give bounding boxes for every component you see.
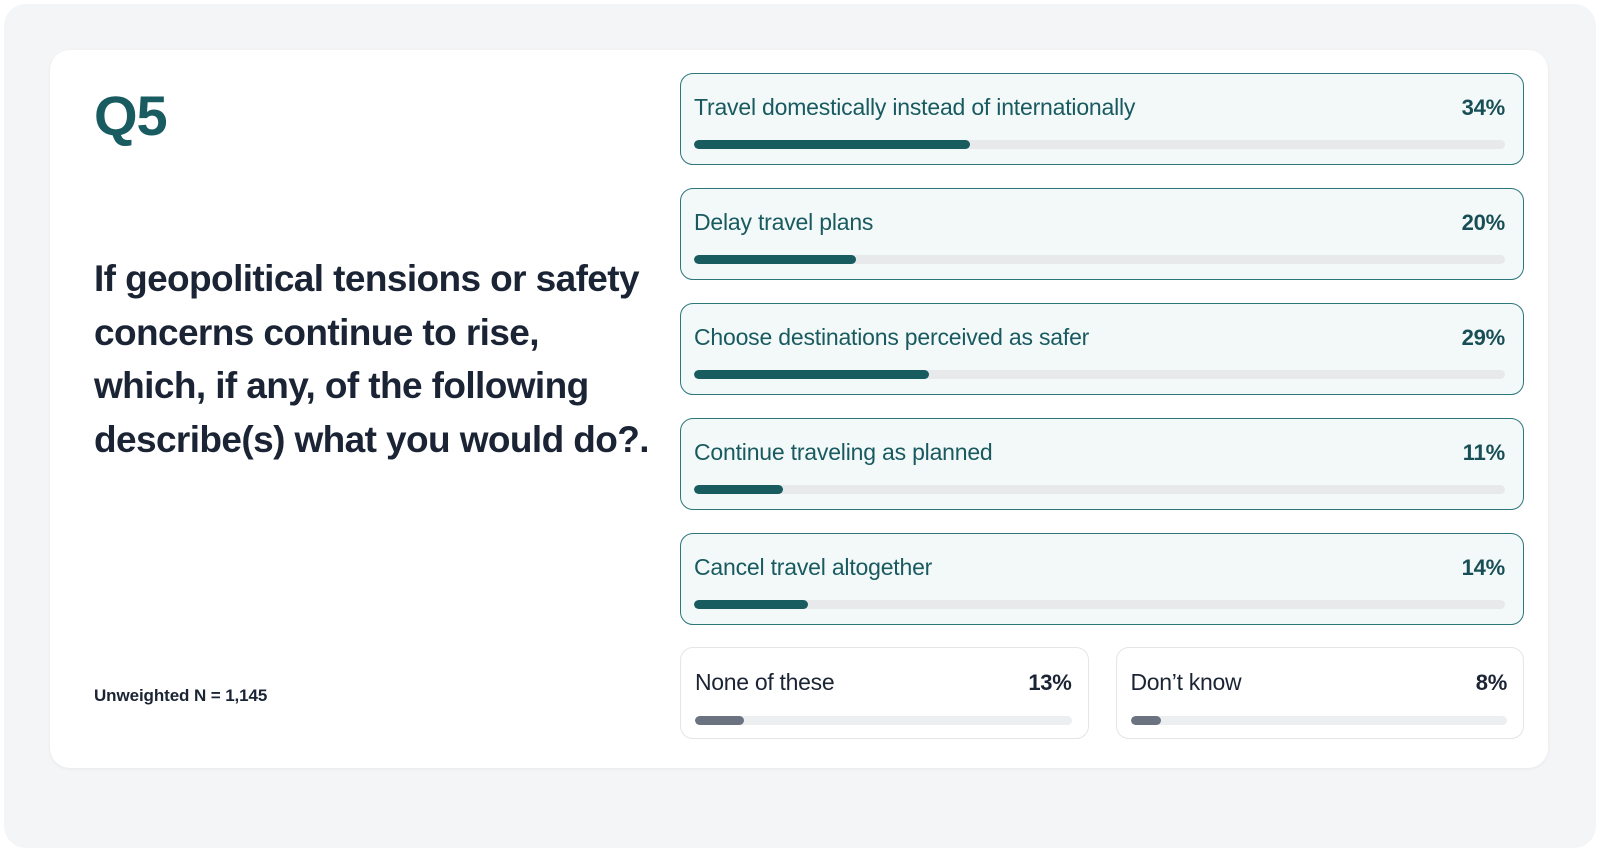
sample-size-label: Unweighted N = 1,145 (94, 686, 267, 706)
option-bar-fill (694, 485, 783, 494)
option-percentage: 14% (1462, 555, 1505, 581)
option-label: Choose destinations perceived as safer (694, 324, 1089, 351)
option-label: None of these (695, 669, 834, 696)
option-label: Cancel travel altogether (694, 554, 932, 581)
option-card-header: Continue traveling as planned11% (694, 439, 1505, 466)
option-percentage: 20% (1462, 210, 1505, 236)
option-bar-track (694, 485, 1505, 494)
option-percentage: 13% (1028, 670, 1071, 696)
option-card-header: Don’t know8% (1131, 669, 1508, 696)
option-card: Choose destinations perceived as safer29… (680, 303, 1524, 395)
option-bar-track (1131, 716, 1508, 725)
primary-options-list: Travel domestically instead of internati… (680, 73, 1524, 625)
option-label: Travel domestically instead of internati… (694, 94, 1135, 121)
option-bar-fill (694, 600, 808, 609)
question-column: Q5 If geopolitical tensions or safety co… (50, 50, 680, 768)
option-bar-fill (694, 140, 970, 149)
option-card: Cancel travel altogether14% (680, 533, 1524, 625)
secondary-options-row: None of these13%Don’t know8% (680, 647, 1524, 739)
survey-result-slide: Q5 If geopolitical tensions or safety co… (0, 0, 1600, 852)
option-card: Travel domestically instead of internati… (680, 73, 1524, 165)
question-number: Q5 (94, 88, 680, 144)
results-column: Travel domestically instead of internati… (680, 50, 1548, 768)
option-card: Delay travel plans20% (680, 188, 1524, 280)
option-card: None of these13% (680, 647, 1089, 739)
option-percentage: 29% (1462, 325, 1505, 351)
option-bar-fill (1131, 716, 1161, 725)
option-label: Don’t know (1131, 669, 1242, 696)
option-card: Continue traveling as planned11% (680, 418, 1524, 510)
option-bar-fill (694, 370, 929, 379)
option-bar-fill (695, 716, 744, 725)
option-card-header: Delay travel plans20% (694, 209, 1505, 236)
option-bar-track (694, 600, 1505, 609)
option-bar-fill (694, 255, 856, 264)
option-bar-track (694, 370, 1505, 379)
result-card-panel: Q5 If geopolitical tensions or safety co… (50, 50, 1548, 768)
option-percentage: 11% (1463, 440, 1505, 466)
option-bar-track (694, 255, 1505, 264)
option-card-header: Choose destinations perceived as safer29… (694, 324, 1505, 351)
option-label: Delay travel plans (694, 209, 873, 236)
question-text: If geopolitical tensions or safety conce… (94, 252, 654, 467)
option-percentage: 34% (1462, 95, 1505, 121)
option-percentage: 8% (1476, 670, 1507, 696)
option-card-header: None of these13% (695, 669, 1072, 696)
option-bar-track (695, 716, 1072, 725)
option-bar-track (694, 140, 1505, 149)
option-label: Continue traveling as planned (694, 439, 993, 466)
option-card: Don’t know8% (1116, 647, 1525, 739)
option-card-header: Cancel travel altogether14% (694, 554, 1505, 581)
option-card-header: Travel domestically instead of internati… (694, 94, 1505, 121)
